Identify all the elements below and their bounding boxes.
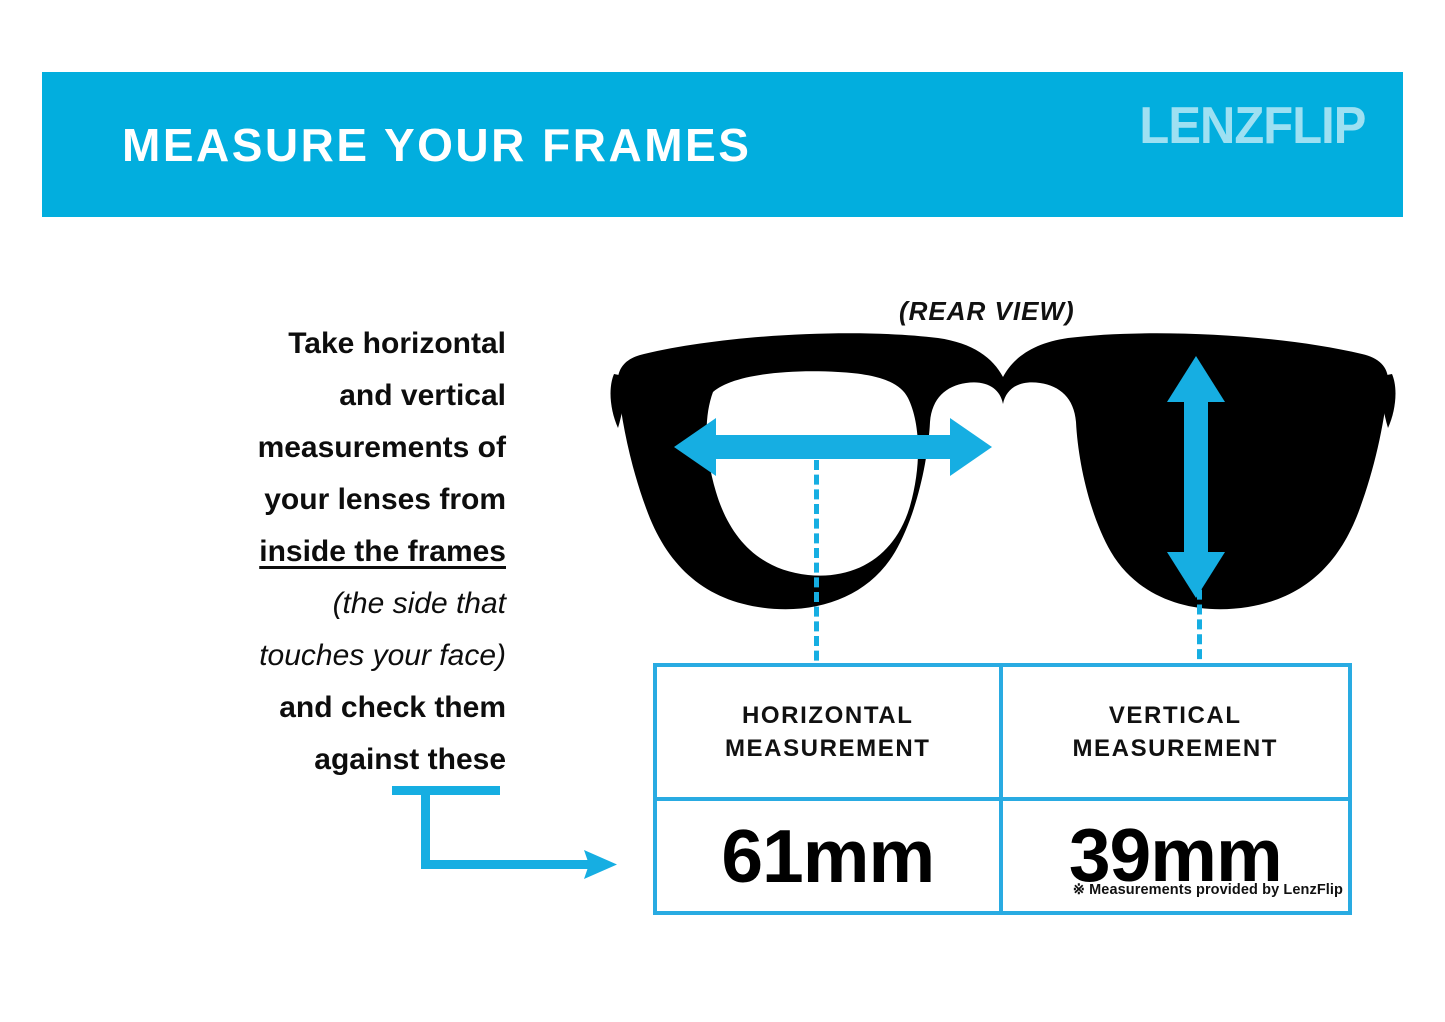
horizontal-measurement-value: 61mm <box>721 819 934 894</box>
horizontal-header-line1: HORIZONTAL <box>742 702 914 729</box>
instruction-line-6: (the side that <box>150 578 506 630</box>
instruction-line-8: and check them <box>150 682 506 734</box>
connector-arrow-icon <box>392 786 617 881</box>
instruction-line-3: measurements of <box>150 422 506 474</box>
table-header-horizontal: HORIZONTAL MEASUREMENT <box>657 667 1003 801</box>
lenzflip-logo: LENZFLIP <box>1139 100 1365 152</box>
table-value-horizontal: 61mm <box>657 801 1003 911</box>
instruction-line-1: Take horizontal <box>150 318 506 370</box>
instruction-line-4: your lenses from <box>150 474 506 526</box>
instruction-line-2: and vertical <box>150 370 506 422</box>
header-band: MEASURE YOUR FRAMES LENZFLIP <box>42 72 1403 217</box>
instruction-emphasis-inside-the-frames: inside the frames <box>150 526 506 578</box>
horizontal-header-line2: MEASUREMENT <box>725 732 931 765</box>
instruction-text-block: Take horizontal and vertical measurement… <box>150 318 506 786</box>
left-temple-nub-icon <box>611 374 625 428</box>
rear-view-label: (REAR VIEW) <box>899 296 1075 327</box>
horizontal-measurement-arrow <box>674 418 992 476</box>
infographic-page: MEASURE YOUR FRAMES LENZFLIP Take horizo… <box>0 0 1445 1022</box>
eyeglasses-frame-illustration <box>608 330 1398 660</box>
measurements-footnote: ※ Measurements provided by LenzFlip <box>1073 882 1343 898</box>
vertical-header-line2: MEASUREMENT <box>1072 732 1278 765</box>
vertical-header-line1: VERTICAL <box>1109 702 1242 729</box>
table-header-vertical: VERTICAL MEASUREMENT <box>1003 667 1349 801</box>
instruction-line-9: against these <box>150 734 506 786</box>
frame-silhouette-icon <box>618 333 1389 609</box>
table-value-vertical: 39mm ※ Measurements provided by LenzFlip <box>1003 801 1349 911</box>
page-title: MEASURE YOUR FRAMES <box>122 122 751 168</box>
measurement-table: HORIZONTAL MEASUREMENT VERTICAL MEASUREM… <box>653 663 1352 915</box>
right-temple-nub-icon <box>1381 374 1395 428</box>
instruction-line-7: touches your face) <box>150 630 506 682</box>
